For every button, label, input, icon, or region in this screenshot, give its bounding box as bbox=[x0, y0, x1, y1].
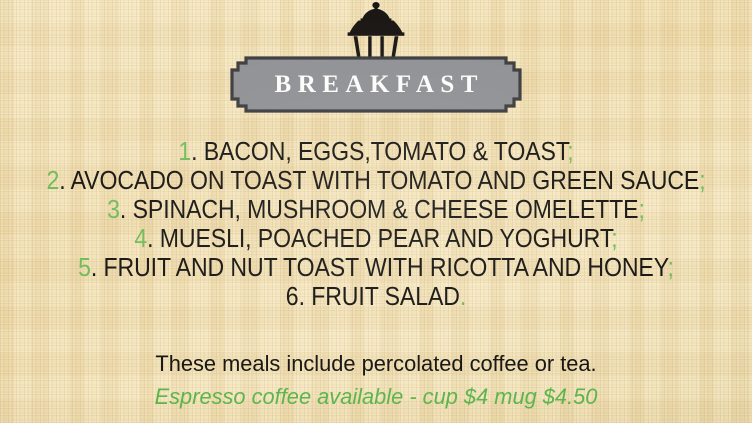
menu-item-terminator: ; bbox=[699, 167, 705, 195]
menu-item-text: BACON, EGGS,TOMATO & TOAST bbox=[197, 138, 567, 166]
menu-footnotes: These meals include percolated coffee or… bbox=[0, 349, 752, 412]
banner-title: BREAKFAST bbox=[230, 56, 522, 113]
menu-item-terminator: ; bbox=[567, 138, 573, 166]
menu-item-number: 1 bbox=[178, 138, 191, 166]
note-espresso-pricing: Espresso coffee available - cup $4 mug $… bbox=[11, 382, 740, 412]
menu-item-1: 1. BACON, EGGS,TOMATO & TOAST; bbox=[36, 138, 717, 167]
menu-item-text: AVOCADO ON TOAST WITH TOMATO AND GREEN S… bbox=[66, 167, 700, 195]
menu-item-terminator: ; bbox=[638, 196, 644, 224]
menu-item-terminator: . bbox=[460, 283, 466, 311]
menu-item-terminator: ; bbox=[611, 225, 617, 253]
menu-item-5: 5. FRUIT AND NUT TOAST WITH RICOTTA AND … bbox=[36, 254, 717, 283]
menu-item-3: 3. SPINACH, MUSHROOM & CHEESE OMELETTE; bbox=[36, 196, 717, 225]
note-included-drinks: These meals include percolated coffee or… bbox=[11, 349, 740, 378]
breakfast-banner: BREAKFAST bbox=[230, 56, 522, 113]
menu-item-list: 1. BACON, EGGS,TOMATO & TOAST; 2. AVOCAD… bbox=[0, 138, 752, 312]
menu-item-4: 4. MUESLI, POACHED PEAR AND YOGHURT; bbox=[36, 225, 717, 254]
menu-header: BREAKFAST bbox=[0, 0, 752, 120]
menu-item-number: 5 bbox=[78, 254, 91, 282]
menu-item-number: 2 bbox=[46, 167, 59, 195]
menu-item-number: 3 bbox=[107, 196, 120, 224]
menu-item-text: SPINACH, MUSHROOM & CHEESE OMELETTE bbox=[126, 196, 638, 224]
menu-item-text: MUESLI, POACHED PEAR AND YOGHURT bbox=[153, 225, 611, 253]
menu-board: BREAKFAST 1. BACON, EGGS,TOMATO & TOAST;… bbox=[0, 0, 752, 423]
menu-item-6: 6. FRUIT SALAD. bbox=[36, 283, 717, 312]
menu-item-number: 4 bbox=[134, 225, 147, 253]
menu-item-number: 6 bbox=[286, 283, 299, 311]
menu-item-text: FRUIT AND NUT TOAST WITH RICOTTA AND HON… bbox=[97, 254, 667, 282]
menu-item-text: FRUIT SALAD bbox=[305, 283, 460, 311]
menu-item-2: 2. AVOCADO ON TOAST WITH TOMATO AND GREE… bbox=[36, 167, 717, 196]
menu-item-terminator: ; bbox=[668, 254, 674, 282]
